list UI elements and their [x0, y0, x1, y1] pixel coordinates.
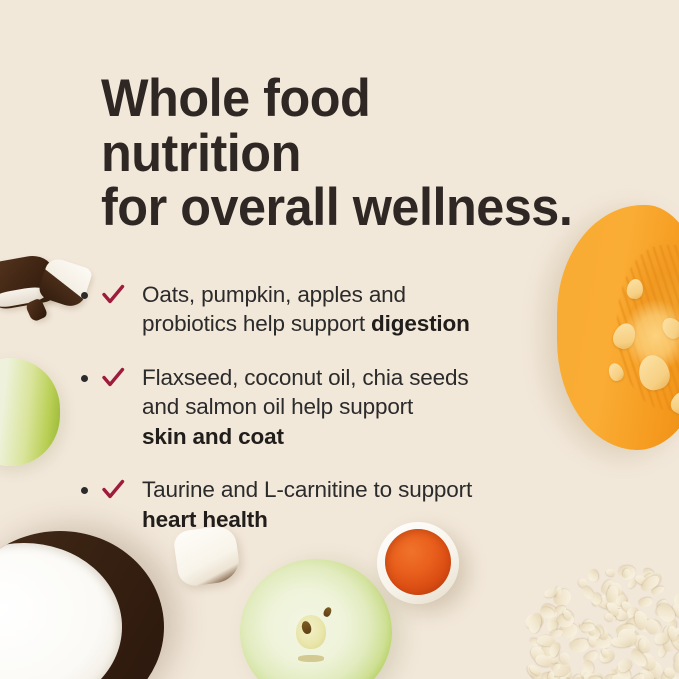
page-title: Whole food nutrition for overall wellnes…: [101, 72, 576, 236]
check-icon: [101, 478, 125, 502]
list-item: Flaxseed, coconut oil, chia seedsand sal…: [101, 363, 601, 451]
check-icon: [101, 366, 125, 390]
green-apple-half-icon: [240, 559, 392, 679]
oil-bowl-icon: [377, 522, 459, 604]
list-item-label: Flaxseed, coconut oil, chia seedsand sal…: [142, 363, 601, 451]
benefits-list: Oats, pumpkin, apples andprobiotics help…: [101, 280, 601, 534]
product-benefits-poster: Whole food nutrition for overall wellnes…: [0, 0, 679, 679]
green-apple-slice-icon: [0, 358, 60, 466]
content-block: Whole food nutrition for overall wellnes…: [101, 72, 601, 534]
list-item-label: Taurine and L-carnitine to supportheart …: [142, 475, 601, 534]
rolled-oats-icon: [495, 529, 679, 679]
list-item: Taurine and L-carnitine to supportheart …: [101, 475, 601, 534]
coconut-half-icon: [0, 531, 164, 679]
list-item-label: Oats, pumpkin, apples andprobiotics help…: [142, 280, 601, 339]
list-item: Oats, pumpkin, apples andprobiotics help…: [101, 280, 601, 339]
check-icon: [101, 283, 125, 307]
